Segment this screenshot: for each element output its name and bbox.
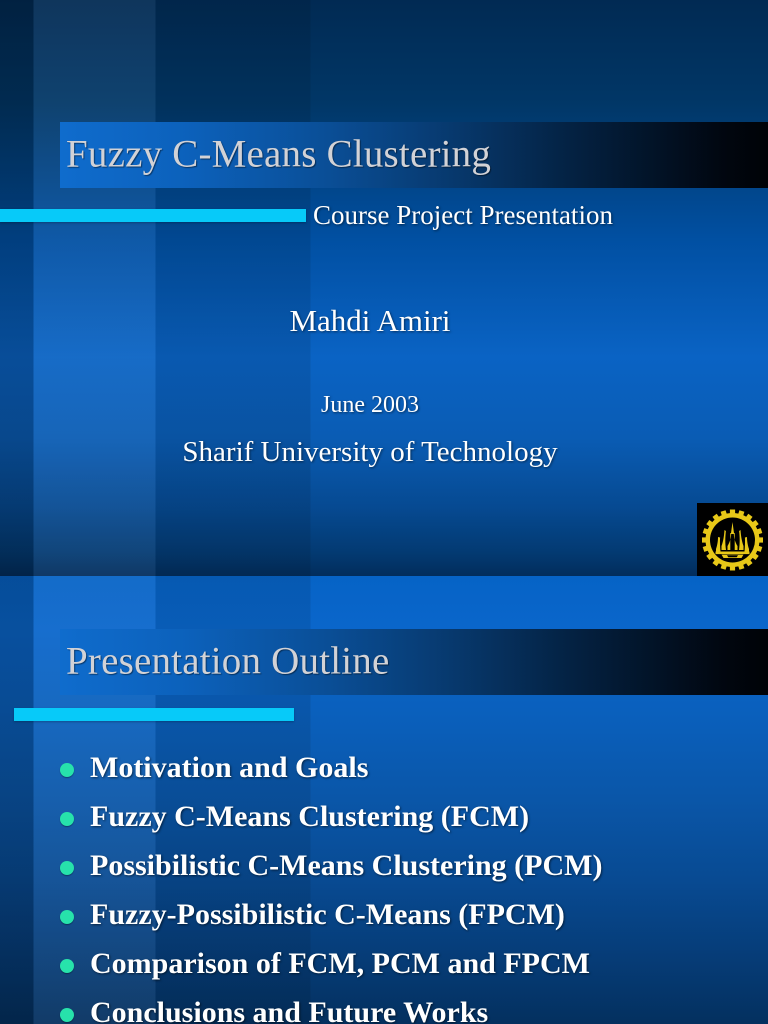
- slide-subtitle: Course Project Presentation: [313, 200, 613, 231]
- list-item-label: Motivation and Goals: [90, 749, 368, 787]
- accent-rule: [14, 708, 294, 721]
- list-item[interactable]: Possibilistic C-Means Clustering (PCM): [60, 847, 760, 896]
- list-item-label: Possibilistic C-Means Clustering (PCM): [90, 847, 602, 885]
- outline-banner: Presentation Outline: [60, 629, 768, 695]
- list-item[interactable]: Motivation and Goals: [60, 749, 760, 798]
- sharif-university-logo: [697, 503, 768, 576]
- accent-rule: [0, 209, 306, 222]
- outline-bullet-list: Motivation and Goals Fuzzy C-Means Clust…: [60, 749, 760, 1024]
- presentation-deck: Fuzzy C-Means Clustering Course Project …: [0, 0, 768, 1024]
- list-item[interactable]: Comparison of FCM, PCM and FPCM: [60, 945, 760, 994]
- slide-background: [0, 0, 768, 576]
- list-item[interactable]: Fuzzy C-Means Clustering (FCM): [60, 798, 760, 847]
- list-item-label: Conclusions and Future Works: [90, 994, 488, 1024]
- list-item-label: Comparison of FCM, PCM and FPCM: [90, 945, 590, 983]
- bullet-dot-icon: [60, 1008, 74, 1022]
- outline-slide: Presentation Outline Motivation and Goal…: [0, 576, 768, 1024]
- slide-title: Presentation Outline: [66, 642, 390, 681]
- bullet-dot-icon: [60, 812, 74, 826]
- title-slide: Fuzzy C-Means Clustering Course Project …: [0, 0, 768, 576]
- presentation-date: June 2003: [0, 392, 740, 419]
- bullet-dot-icon: [60, 763, 74, 777]
- bullet-dot-icon: [60, 959, 74, 973]
- slide-title: Fuzzy C-Means Clustering: [66, 135, 491, 174]
- title-banner: Fuzzy C-Means Clustering: [60, 122, 768, 188]
- list-item-label: Fuzzy C-Means Clustering (FCM): [90, 798, 529, 836]
- author-name: Mahdi Amiri: [0, 303, 740, 339]
- affiliation-name: Sharif University of Technology: [0, 436, 740, 469]
- list-item[interactable]: Fuzzy-Possibilistic C-Means (FPCM): [60, 896, 760, 945]
- bullet-dot-icon: [60, 861, 74, 875]
- list-item[interactable]: Conclusions and Future Works: [60, 994, 760, 1024]
- bullet-dot-icon: [60, 910, 74, 924]
- list-item-label: Fuzzy-Possibilistic C-Means (FPCM): [90, 896, 565, 934]
- sharif-logo-icon: [697, 503, 768, 576]
